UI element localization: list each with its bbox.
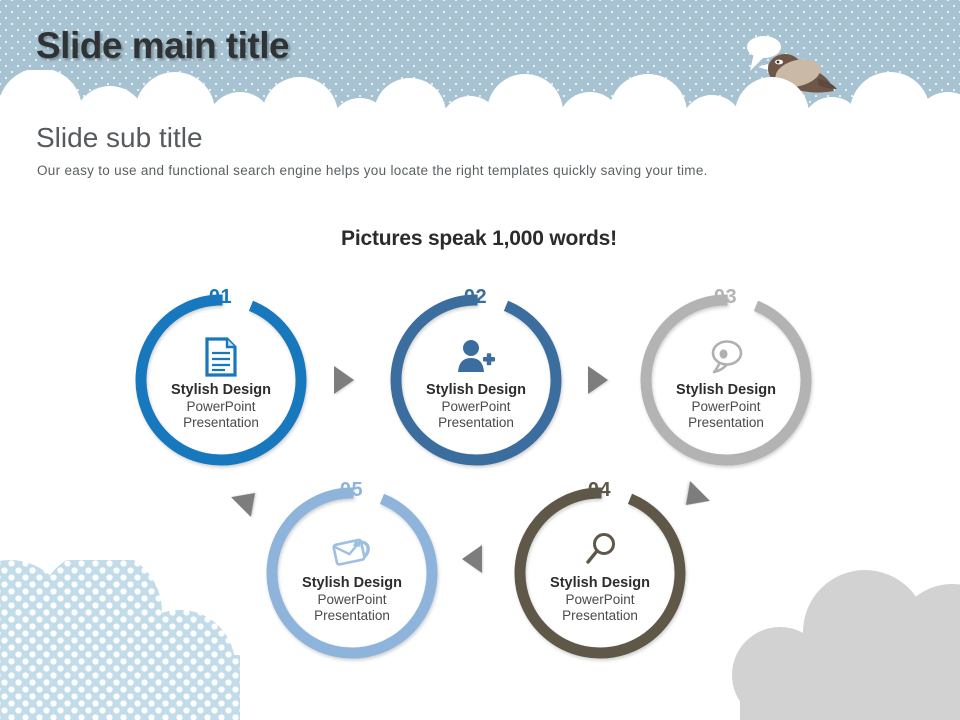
section-heading: Pictures speak 1,000 words! [0,227,960,251]
section-heading-text: Pictures speak 1,000 words! [341,227,617,251]
intro-description: Our easy to use and functional search en… [37,162,877,180]
step-body-04: Stylish Design PowerPoint Presentation [512,529,688,624]
step-title-03: Stylish Design [638,382,814,399]
step-title-05: Stylish Design [264,575,440,592]
step-line2-05: PowerPoint [264,592,440,608]
cloud-bottom-left [0,560,270,720]
arrow-1-to-2 [334,366,354,394]
step-node-01[interactable]: 01 Stylish Design PowerPoint Presentatio… [133,292,309,468]
step-line2-04: PowerPoint [512,592,688,608]
step-body-03: Stylish Design PowerPoint Presentation [638,336,814,431]
step-body-01: Stylish Design PowerPoint Presentation [133,336,309,431]
step-title-04: Stylish Design [512,575,688,592]
arrow-2-to-3 [588,366,608,394]
speech-bubble-icon [638,336,814,378]
slide-canvas: Slide main title [0,0,960,720]
magnifier-icon [512,529,688,571]
step-node-02[interactable]: 02 Stylish Design PowerPoint Presentatio… [388,292,564,468]
step-body-02: Stylish Design PowerPoint Presentation [388,336,564,431]
sub-title: Slide sub title [36,122,203,154]
step-line3-01: Presentation [133,415,309,431]
step-line3-04: Presentation [512,608,688,624]
step-line3-05: Presentation [264,608,440,624]
arrow-5-up [231,483,265,517]
add-user-icon [388,336,564,378]
step-title-02: Stylish Design [388,382,564,399]
step-line2-03: PowerPoint [638,399,814,415]
page-title: Slide main title [36,25,289,67]
step-line2-01: PowerPoint [133,399,309,415]
step-number-05: 05 [340,479,363,502]
step-number-02: 02 [464,286,487,309]
step-line3-02: Presentation [388,415,564,431]
step-number-04: 04 [588,479,611,502]
step-node-05[interactable]: 05 Stylish Design PowerPoint Presentatio… [264,485,440,661]
step-title-01: Stylish Design [133,382,309,399]
step-line3-03: Presentation [638,415,814,431]
document-icon [133,336,309,378]
envelope-reply-icon [264,529,440,571]
cloud-bottom-right [680,570,960,720]
arrow-4-to-5 [462,545,482,573]
step-node-03[interactable]: 03 Stylish Design PowerPoint Presentatio… [638,292,814,468]
step-node-04[interactable]: 04 Stylish Design PowerPoint Presentatio… [512,485,688,661]
step-number-03: 03 [714,286,737,309]
step-body-05: Stylish Design PowerPoint Presentation [264,529,440,624]
step-line2-02: PowerPoint [388,399,564,415]
step-number-01: 01 [209,286,232,309]
